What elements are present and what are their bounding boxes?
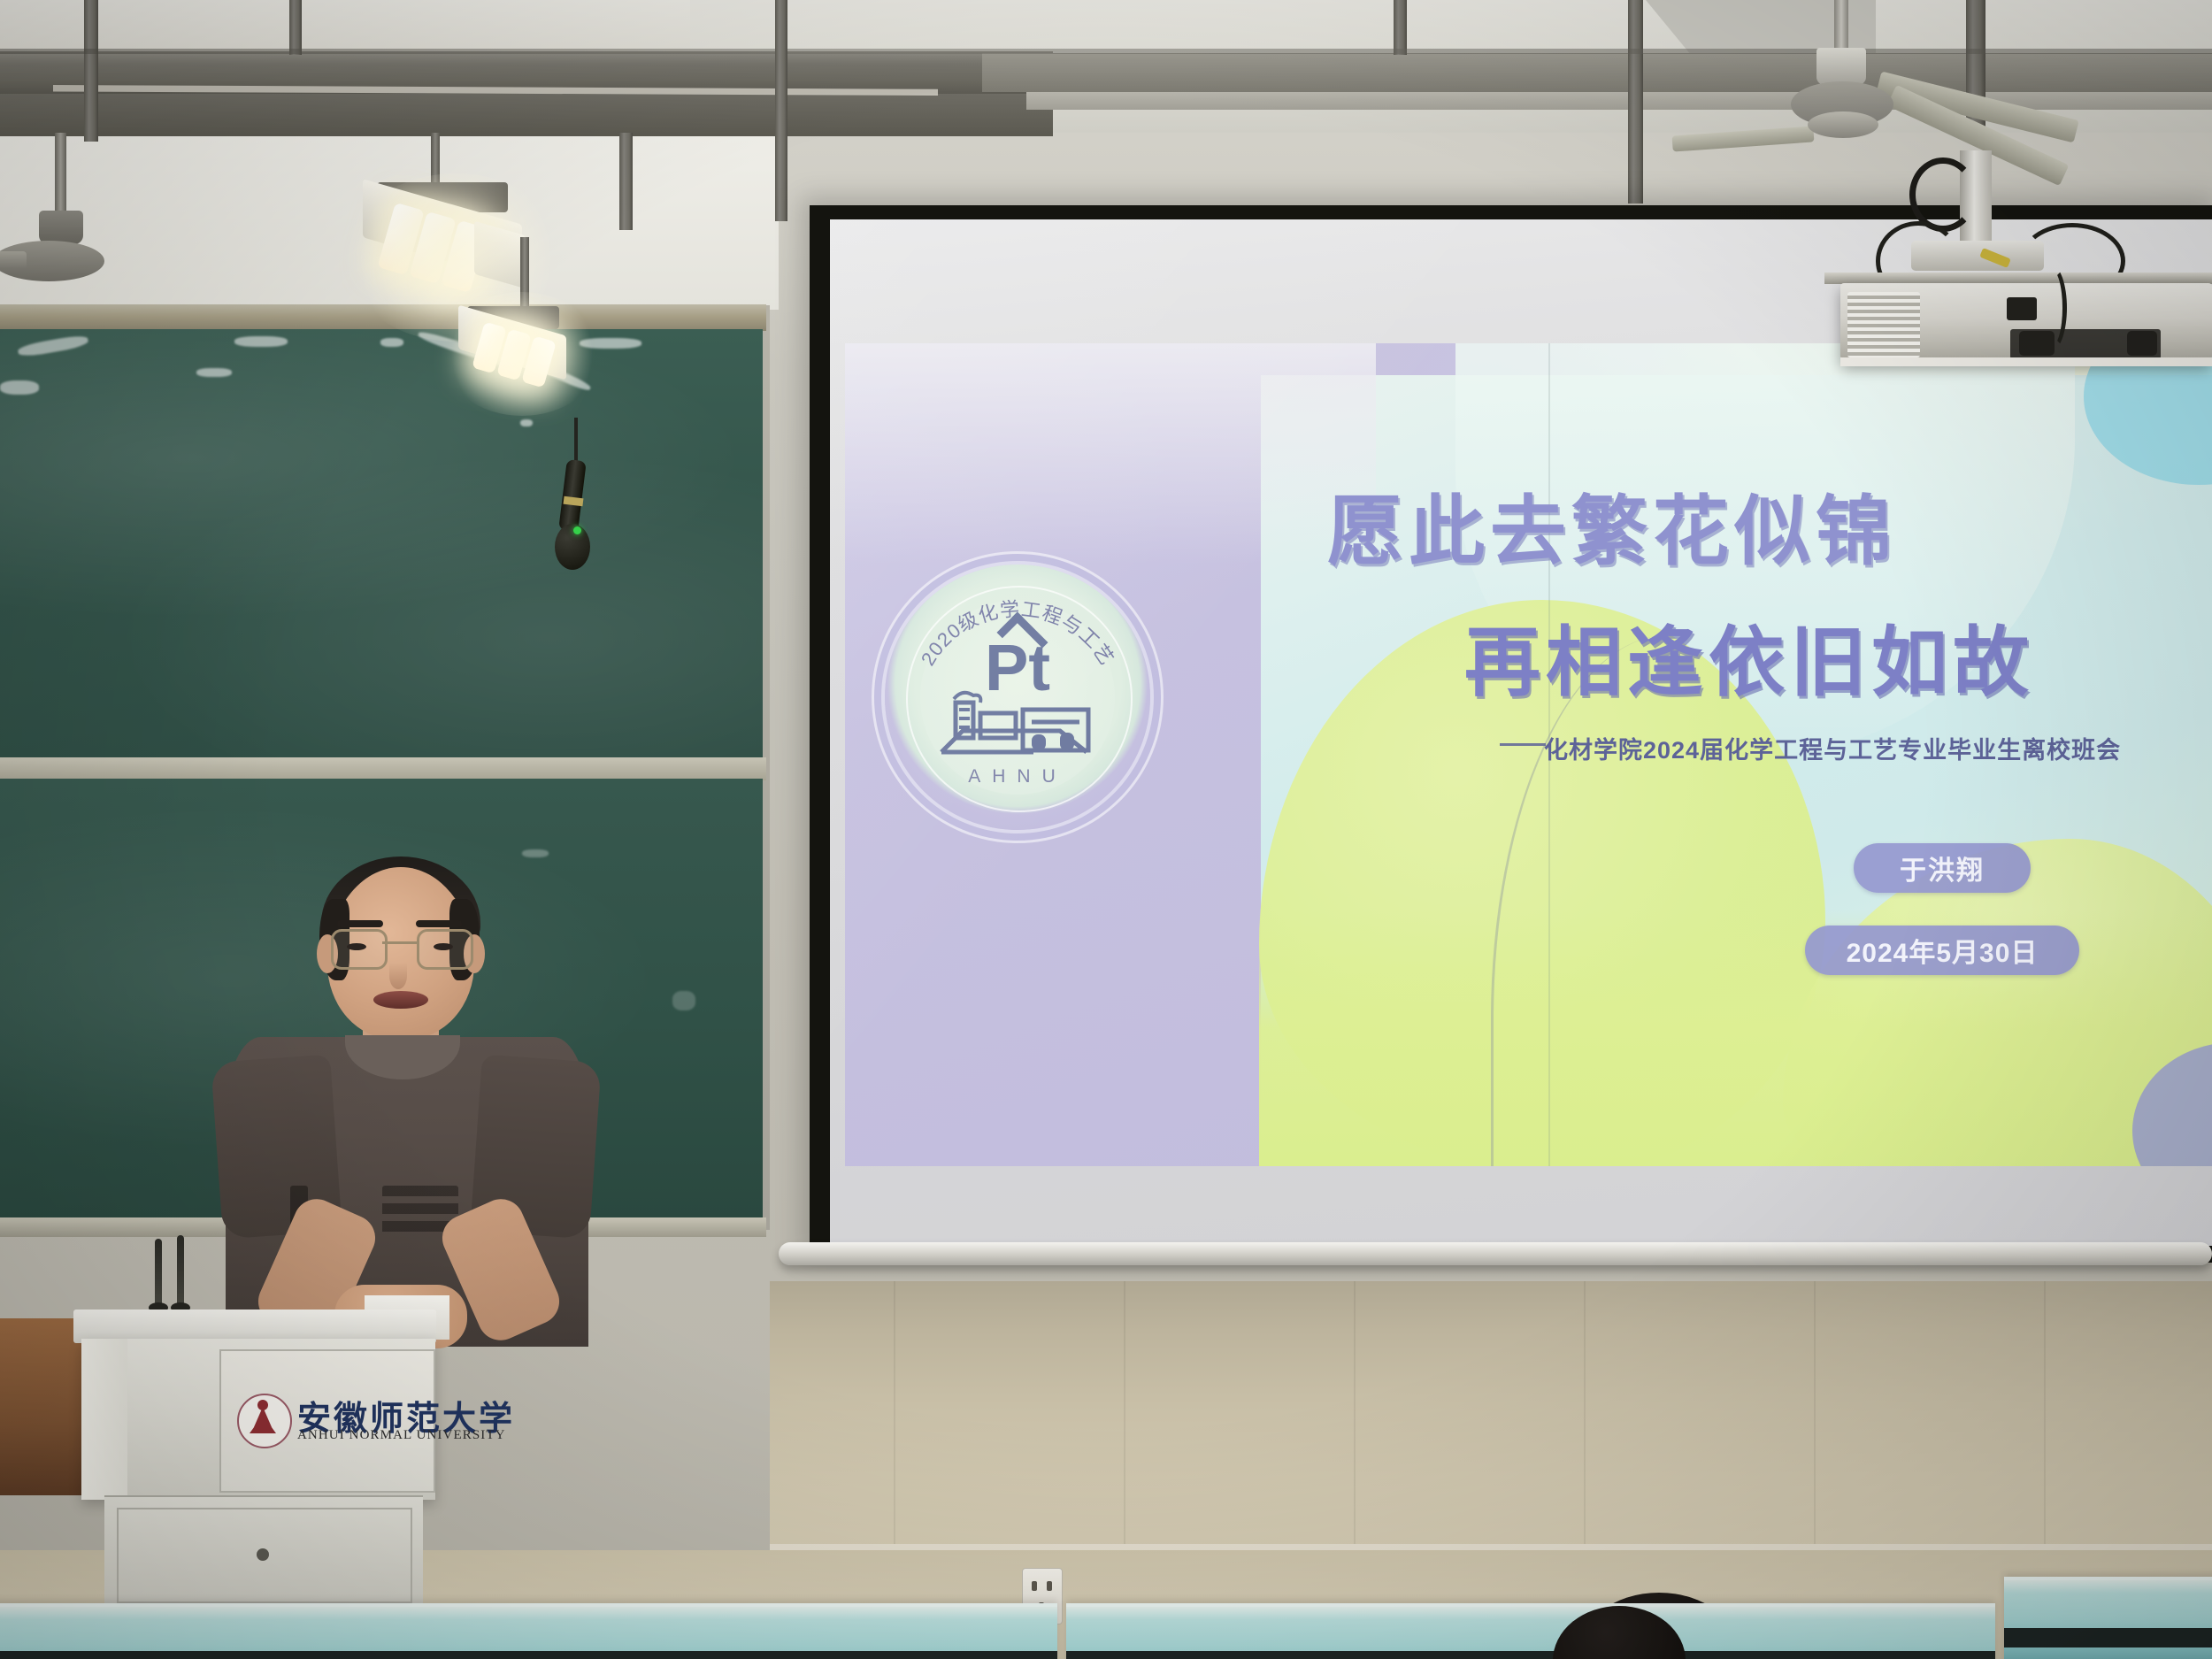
microphone-head [555,524,590,570]
ceiling-fan-cap-left [39,211,83,244]
slide-lavender-fade [845,343,1376,565]
ceiling-post-2 [289,0,302,55]
class-emblem: 2020级化学工程与工艺 Pt [885,565,1150,830]
ceiling-post-5 [619,133,633,230]
projector-panel-dark [2007,297,2037,320]
ceiling-fan-blade-left [0,251,27,269]
ceiling-beam-right-lower [1026,92,2212,110]
ceiling-beam-left-lower [0,94,1053,136]
ceiling-fan-rod [1834,0,1848,51]
ceiling-post-3 [1394,0,1407,55]
presenter [221,849,593,1345]
ceiling-post-6 [775,0,787,221]
ceiling-post-1 [84,0,98,142]
side-cabinet [0,1318,85,1495]
chalkboard-mid-ledge [0,757,766,780]
ceiling-beam-right [982,53,2212,92]
ceiling-post-4 [1628,0,1643,204]
student-desk-left-edge [0,1651,1057,1659]
podium-antenna-2 [177,1235,184,1313]
emblem-bottom-text: AHNU [885,766,1150,787]
student-desk-center-edge [1066,1651,1995,1659]
university-seal-dot [257,1400,268,1410]
lower-wall-panel [770,1281,2212,1555]
slide-subtitle-dash [1500,743,1546,746]
classroom-photo: 2020级化学工程与工艺 Pt [0,0,2212,1659]
chalkboard-upper [0,329,763,765]
slide-subtitle: 化材学院2024届化学工程与工艺专业毕业生离校班会 [1544,731,2121,765]
projector-bottom-edge [1840,357,2212,366]
slide-title-line1: 愿此去繁花似锦 [1327,469,1897,580]
podium-knob [257,1548,269,1561]
slide-title-line2: 再相逢依旧如故 [1464,600,2034,710]
presenter-nose [389,963,407,989]
ceiling-fan-cap [1816,48,1866,85]
ceiling-fan-rod-left [55,133,66,217]
student-desk-right-edge [2004,1628,2212,1647]
university-name-en: ANHUI NORMAL UNIVERSITY [297,1428,506,1443]
podium-left-side [81,1339,127,1500]
ceiling-rail [0,49,2212,54]
ceiling-slab [0,0,690,55]
ceiling-fan-light [1808,111,1878,138]
presenter-mouth [373,991,428,1009]
projector-connector-2 [2127,331,2157,356]
slide-date-badge: 2024年5月30日 [1805,926,2079,975]
microphone-led-indicator [573,526,581,534]
projector-vent [1847,292,1920,357]
chemical-plant-icon [927,687,1108,766]
screen-weight-bar [779,1242,2212,1265]
slide-presenter-badge: 于洪翔 [1854,843,2031,893]
projector-cable-drop [2037,265,2067,350]
projected-slide: 2020级化学工程与工艺 Pt [845,343,2212,1166]
